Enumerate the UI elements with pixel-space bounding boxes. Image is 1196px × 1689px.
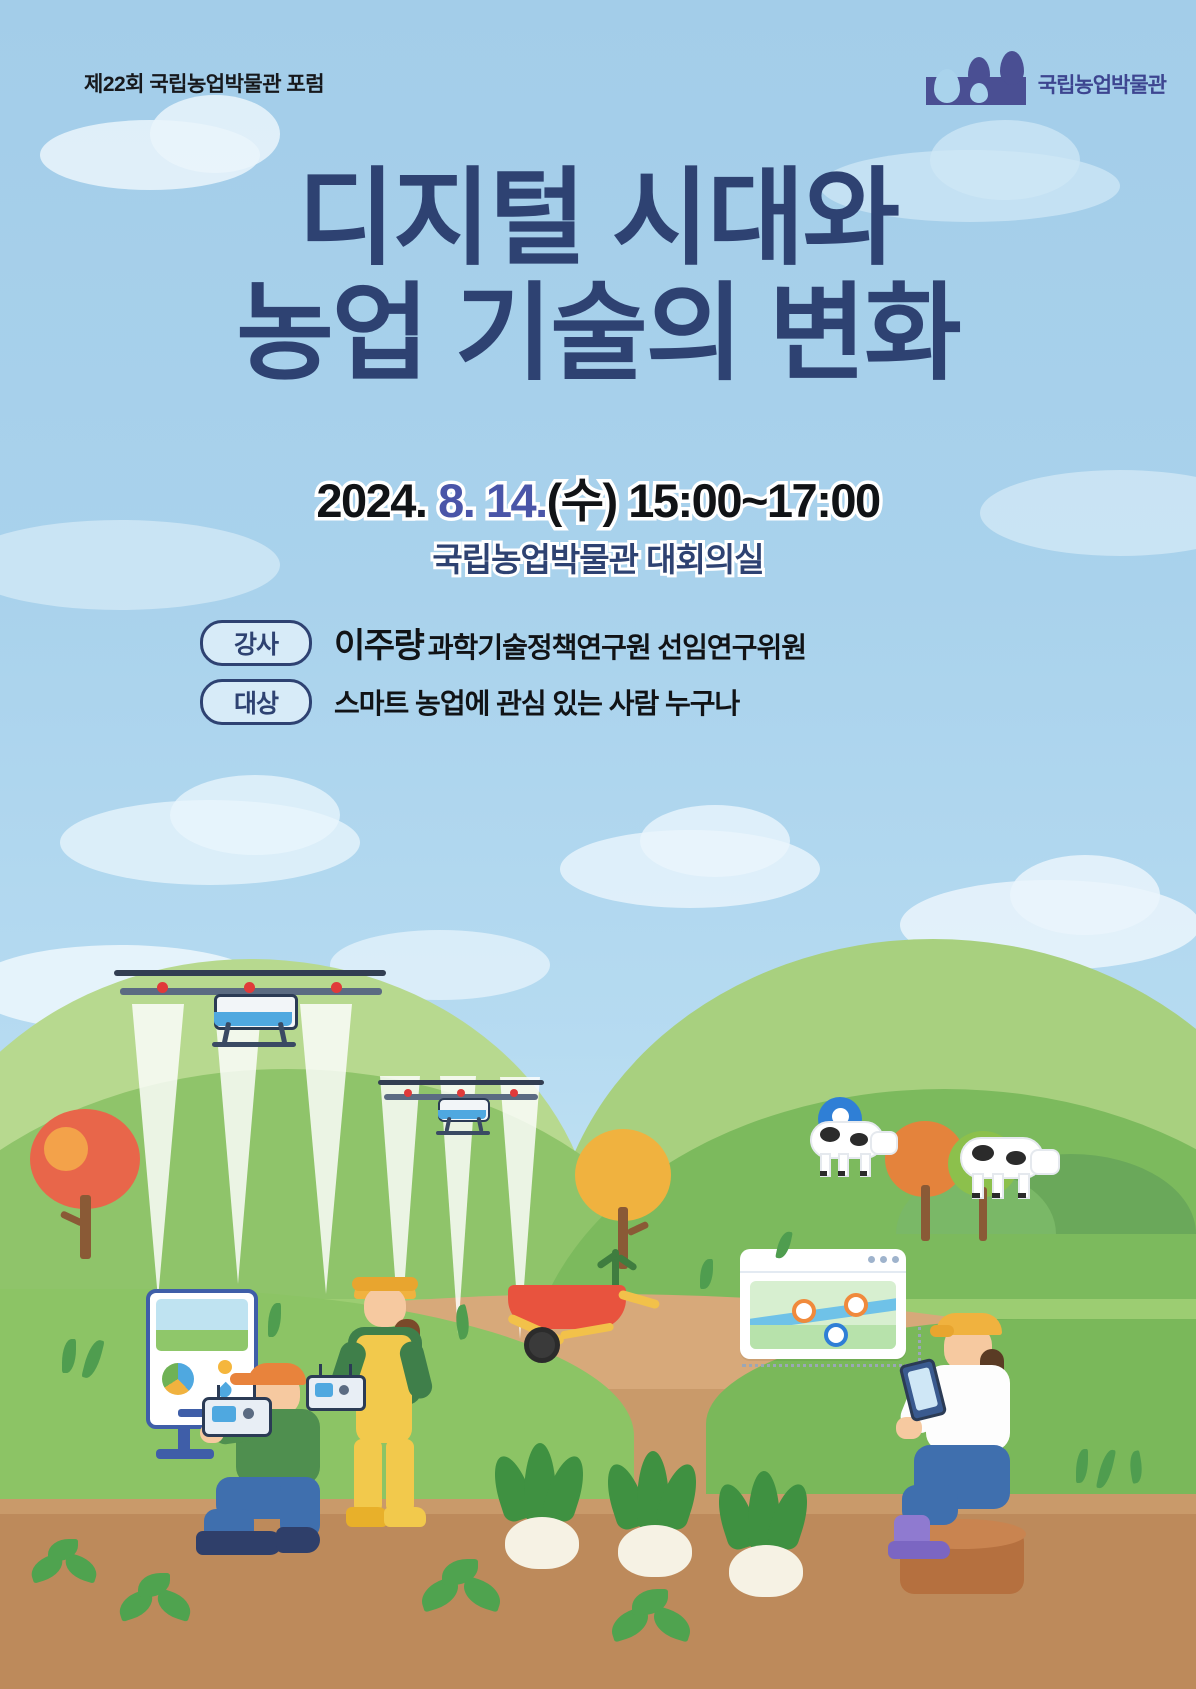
tree-icon xyxy=(30,1109,140,1259)
map-marker-icon xyxy=(844,1293,868,1317)
speaker-name: 이주량 xyxy=(334,627,423,665)
poster: 제22회 국립농업박물관 포럼 국립농업박물관 디지털 시대와 농업 기술의 변… xyxy=(0,0,1196,1689)
museum-seed-logo-icon xyxy=(926,55,1026,113)
drone-icon xyxy=(378,1076,544,1144)
venue-room: 대회의실 xyxy=(638,541,764,578)
museum-logo: 국립농업박물관 xyxy=(926,55,1166,113)
title-line-1: 디지털 시대와 xyxy=(0,160,1196,279)
event-datetime: 2024. 8. 14.(수) 15:00~17:00 xyxy=(0,462,1196,531)
audience-text: 스마트 농업에 관심 있는 사람 누구나 xyxy=(334,682,739,722)
badge-speaker: 강사 xyxy=(200,620,312,666)
monitor-stand xyxy=(178,1425,190,1451)
sprout-icon xyxy=(30,1539,100,1593)
map-marker-icon xyxy=(824,1323,848,1347)
radish-crop-icon xyxy=(505,1517,579,1569)
browser-map-icon xyxy=(740,1249,906,1359)
sprout-icon xyxy=(118,1573,194,1629)
cow-icon xyxy=(960,1133,1058,1199)
sprout-icon xyxy=(610,1589,694,1649)
info-row-speaker: 강사 이주량 과학기술정책연구원 선임연구위원 xyxy=(200,618,806,667)
person-seated-woman xyxy=(888,1309,1048,1559)
tree-icon xyxy=(575,1129,671,1269)
poster-header: 제22회 국립농업박물관 포럼 국립농업박물관 xyxy=(0,0,1196,140)
sprout-icon xyxy=(420,1559,504,1619)
drone-remote-icon xyxy=(202,1397,272,1437)
cloud-icon xyxy=(1010,855,1160,935)
museum-logo-text: 국립농업박물관 xyxy=(1038,69,1166,99)
event-year: 2024. xyxy=(316,474,438,527)
title-line-2: 농업 기술의 변화 xyxy=(0,275,1196,394)
cloud-icon xyxy=(640,805,790,877)
speaker-affiliation: 과학기술정책연구원 선임연구위원 xyxy=(428,632,806,663)
speaker-text: 이주량 과학기술정책연구원 선임연구위원 xyxy=(334,618,806,667)
illustration-scene xyxy=(0,929,1196,1689)
audience-detail: 스마트 농업에 관심 있는 사람 누구나 xyxy=(334,688,739,719)
event-venue: 국립농업박물관 대회의실 xyxy=(0,533,1196,581)
info-row-audience: 대상 스마트 농업에 관심 있는 사람 누구나 xyxy=(200,679,806,725)
cloud-icon xyxy=(170,775,340,855)
venue-place: 국립농업박물관 xyxy=(432,541,638,578)
radish-crop-icon xyxy=(618,1525,692,1577)
wheelbarrow-icon xyxy=(500,1249,660,1359)
map-marker-icon xyxy=(792,1299,816,1323)
cow-icon xyxy=(810,1117,896,1177)
forum-label: 제22회 국립농업박물관 포럼 xyxy=(84,68,324,98)
event-time: (수) 15:00~17:00 xyxy=(547,474,880,527)
badge-audience: 대상 xyxy=(200,679,312,725)
event-date-accent: 8. 14. xyxy=(438,474,547,527)
info-list: 강사 이주량 과학기술정책연구원 선임연구위원 대상 스마트 농업에 관심 있는… xyxy=(200,618,806,737)
drone-icon xyxy=(110,964,390,1054)
poster-title: 디지털 시대와 농업 기술의 변화 xyxy=(0,160,1196,393)
radish-crop-icon xyxy=(729,1545,803,1597)
